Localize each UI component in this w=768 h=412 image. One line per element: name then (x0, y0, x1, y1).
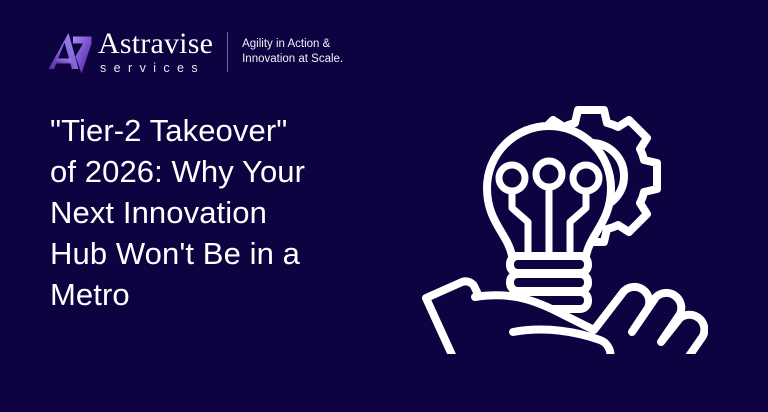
page-title: "Tier-2 Takeover" of 2026: Why Your Next… (50, 110, 410, 315)
headline-line-5: Metro (50, 277, 130, 312)
tagline-line-1: Agility in Action & (242, 37, 343, 52)
brand-name: Astravise (98, 29, 213, 59)
brand-wordmark: Astravise services (98, 29, 213, 76)
brand-tagline: Agility in Action & Innovation at Scale. (242, 37, 343, 67)
headline-line-1: "Tier-2 Takeover" (50, 113, 287, 148)
headline-line-3: Next Innovation (50, 195, 267, 230)
headline-line-4: Hub Won't Be in a (50, 236, 300, 271)
tagline-line-2: Innovation at Scale. (242, 52, 343, 67)
headline-line-2: of 2026: Why Your (50, 154, 305, 189)
astravise-logo-icon (48, 29, 92, 75)
brand-lockup[interactable]: Astravise services Agility in Action & I… (48, 24, 343, 80)
hand-holding-lightbulb-with-gear-icon (418, 92, 708, 354)
brand-subtitle: services (98, 61, 213, 76)
illustration-svg (418, 92, 708, 354)
brand-divider (227, 32, 228, 72)
blog-banner: Astravise services Agility in Action & I… (0, 0, 768, 412)
